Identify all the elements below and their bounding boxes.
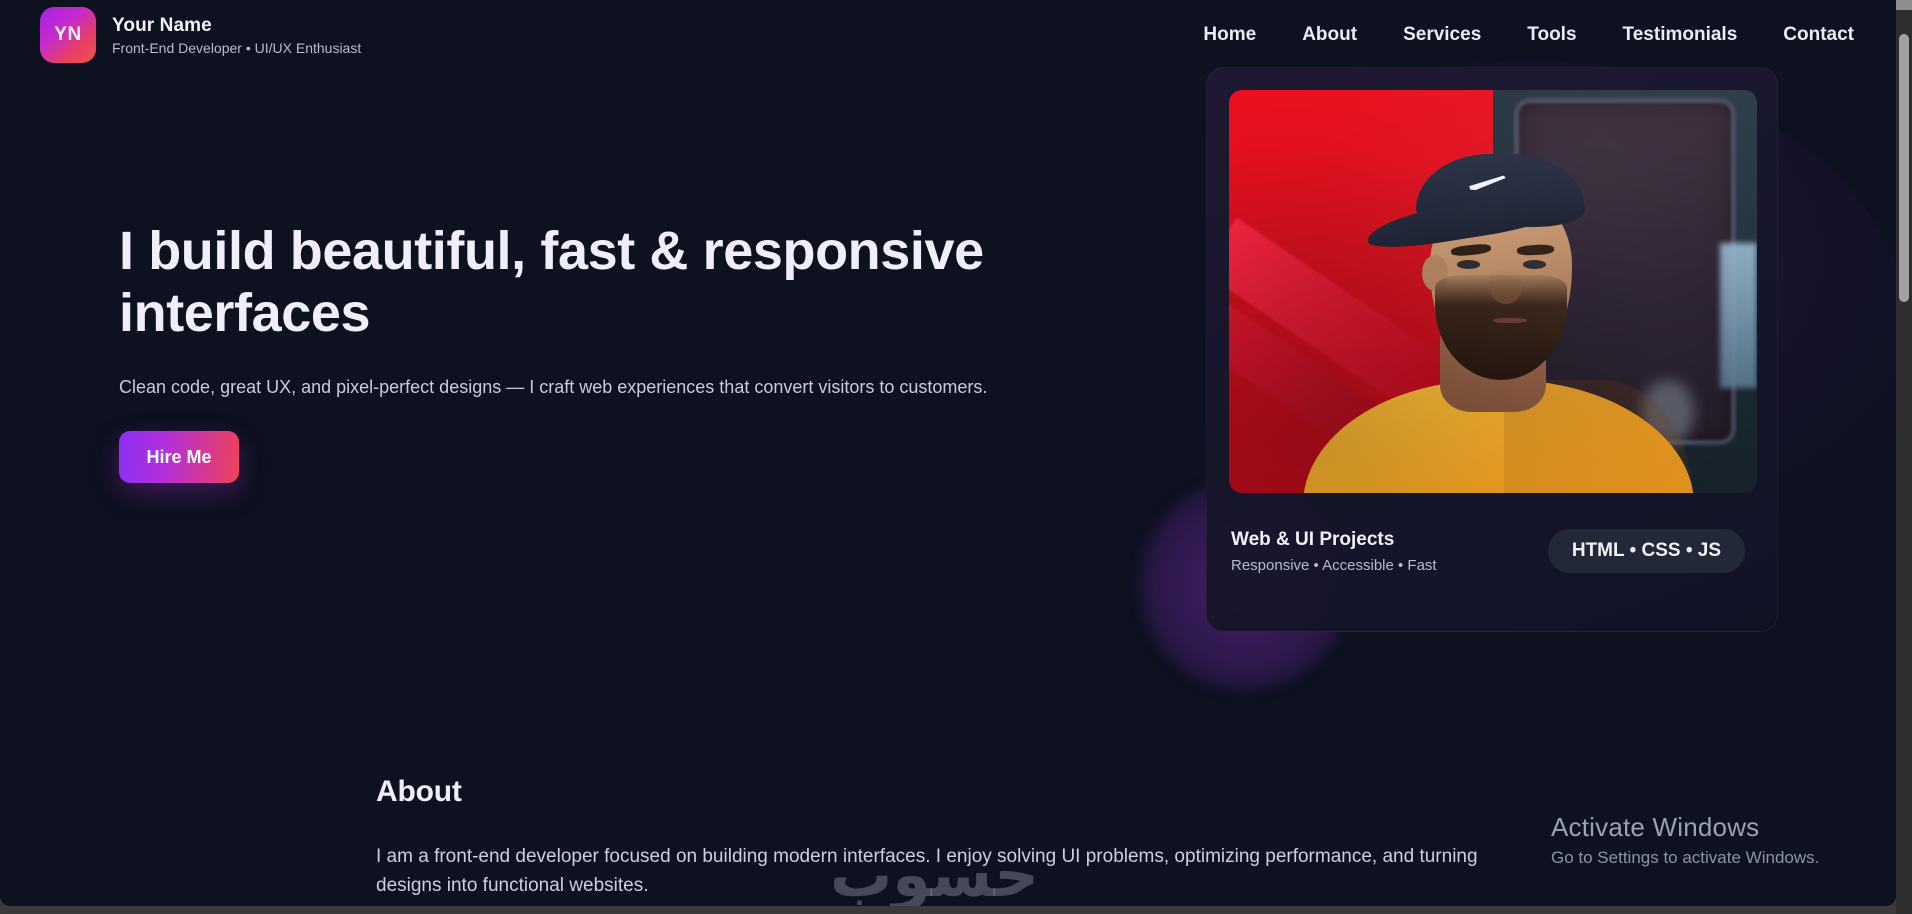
nav-item-home[interactable]: Home — [1203, 24, 1256, 46]
hero-subtitle: Clean code, great UX, and pixel-perfect … — [119, 374, 1129, 401]
brand-text-group: Your Name Front-End Developer • UI/UX En… — [112, 15, 361, 56]
brand-name: Your Name — [112, 15, 361, 37]
hero-copy: I build beautiful, fast & responsive int… — [119, 220, 1129, 483]
logo-initials: YN — [54, 24, 81, 46]
site-header: YN Your Name Front-End Developer • UI/UX… — [0, 0, 1896, 70]
hero-card-meta: Web & UI Projects Responsive • Accessibl… — [1231, 529, 1437, 574]
hire-me-button[interactable]: Hire Me — [119, 431, 239, 483]
hero-title: I build beautiful, fast & responsive int… — [119, 220, 1129, 344]
photo-eye-left — [1457, 260, 1480, 268]
hero-project-card[interactable]: Web & UI Projects Responsive • Accessibl… — [1206, 67, 1778, 632]
nav-item-testimonials[interactable]: Testimonials — [1623, 24, 1738, 46]
hero-section: I build beautiful, fast & responsive int… — [0, 70, 1896, 710]
photo-window-light — [1720, 243, 1757, 388]
about-section: About I am a front-end developer focused… — [0, 710, 1896, 906]
about-title: About — [376, 775, 1516, 809]
nav-item-services[interactable]: Services — [1403, 24, 1481, 46]
nav-item-tools[interactable]: Tools — [1527, 24, 1576, 46]
screen: YN Your Name Front-End Developer • UI/UX… — [0, 0, 1912, 914]
vertical-scrollbar[interactable] — [1896, 0, 1912, 914]
logo-badge[interactable]: YN — [40, 7, 96, 63]
photo-eye-right — [1523, 260, 1546, 268]
about-content: About I am a front-end developer focused… — [376, 775, 1516, 900]
about-body: I am a front-end developer focused on bu… — [376, 843, 1516, 900]
browser-viewport: YN Your Name Front-End Developer • UI/UX… — [0, 0, 1896, 906]
scroll-up-arrow-icon[interactable] — [1896, 0, 1912, 10]
nav-item-about[interactable]: About — [1302, 24, 1357, 46]
brand-logo-group[interactable]: YN Your Name Front-End Developer • UI/UX… — [40, 7, 361, 63]
photo-nose — [1490, 267, 1522, 303]
hero-card-title: Web & UI Projects — [1231, 529, 1437, 551]
tech-stack-pill[interactable]: HTML • CSS • JS — [1548, 529, 1745, 573]
portrait-photo — [1229, 90, 1757, 493]
hero-card-footer: Web & UI Projects Responsive • Accessibl… — [1229, 493, 1755, 609]
nav-item-contact[interactable]: Contact — [1783, 24, 1854, 46]
main-navigation: Home About Services Tools Testimonials C… — [1203, 24, 1854, 46]
brand-tagline: Front-End Developer • UI/UX Enthusiast — [112, 40, 361, 56]
hero-card-subtitle: Responsive • Accessible • Fast — [1231, 557, 1437, 574]
scrollbar-thumb[interactable] — [1899, 34, 1909, 302]
